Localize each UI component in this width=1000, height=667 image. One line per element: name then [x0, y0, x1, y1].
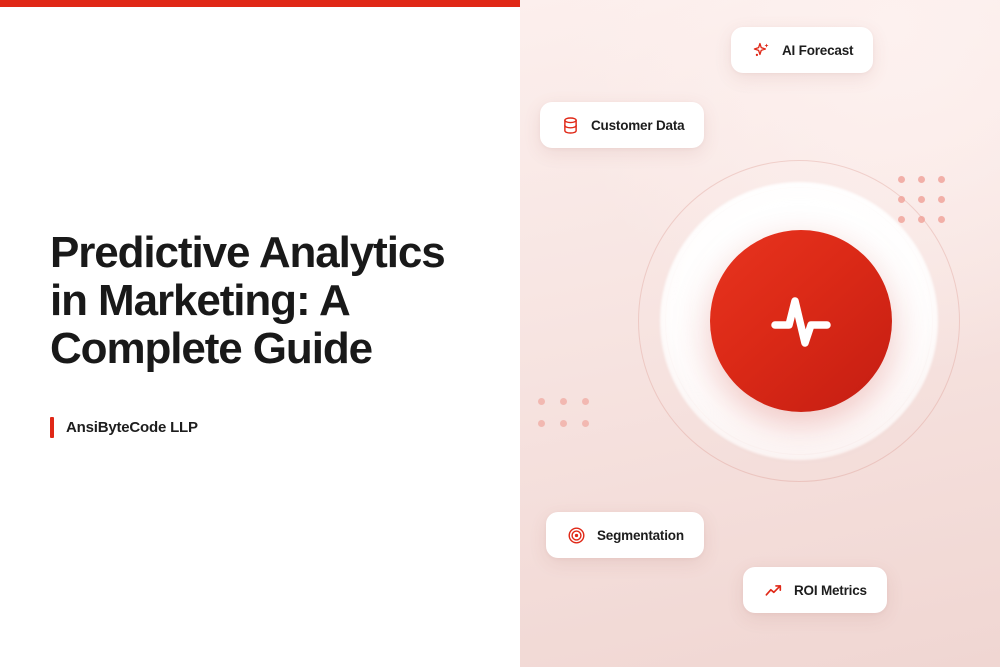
dot — [582, 420, 589, 427]
dot — [898, 176, 905, 183]
chip-label: ROI Metrics — [794, 583, 867, 598]
top-red-accent-bar — [0, 0, 520, 7]
database-icon — [560, 115, 580, 135]
trending-up-icon — [763, 580, 783, 600]
dot — [560, 420, 567, 427]
ebook-cover: Predictive Analytics in Marketing: A Com… — [0, 0, 1000, 667]
dot-grid-mid-left — [538, 398, 604, 442]
chip-label: Customer Data — [591, 118, 684, 133]
dot — [898, 216, 905, 223]
dot — [918, 216, 925, 223]
chip-label: Segmentation — [597, 528, 684, 543]
dot — [938, 216, 945, 223]
dot — [582, 398, 589, 405]
dot — [538, 420, 545, 427]
target-bullseye-icon — [566, 525, 586, 545]
chip-customer-data[interactable]: Customer Data — [540, 102, 704, 148]
dot — [538, 398, 545, 405]
byline: AnsiByteCode LLP — [50, 417, 470, 438]
activity-pulse-icon — [761, 281, 841, 361]
dot-grid-top-right — [898, 176, 958, 236]
chip-segmentation[interactable]: Segmentation — [546, 512, 704, 558]
dot — [938, 176, 945, 183]
dot — [918, 176, 925, 183]
dot — [560, 398, 567, 405]
core-red-circle — [710, 230, 892, 412]
chip-roi-metrics[interactable]: ROI Metrics — [743, 567, 887, 613]
dot — [918, 196, 925, 203]
sparkle-ai-icon — [751, 40, 771, 60]
dot — [898, 196, 905, 203]
byline-accent-bar — [50, 417, 54, 438]
dot — [938, 196, 945, 203]
right-graphic-panel: AI Forecast Customer Data — [520, 0, 1000, 667]
byline-label: AnsiByteCode LLP — [66, 419, 198, 436]
chip-ai-forecast[interactable]: AI Forecast — [731, 27, 873, 73]
chip-label: AI Forecast — [782, 43, 853, 58]
page-title: Predictive Analytics in Marketing: A Com… — [50, 229, 450, 373]
left-title-panel: Predictive Analytics in Marketing: A Com… — [0, 0, 520, 667]
